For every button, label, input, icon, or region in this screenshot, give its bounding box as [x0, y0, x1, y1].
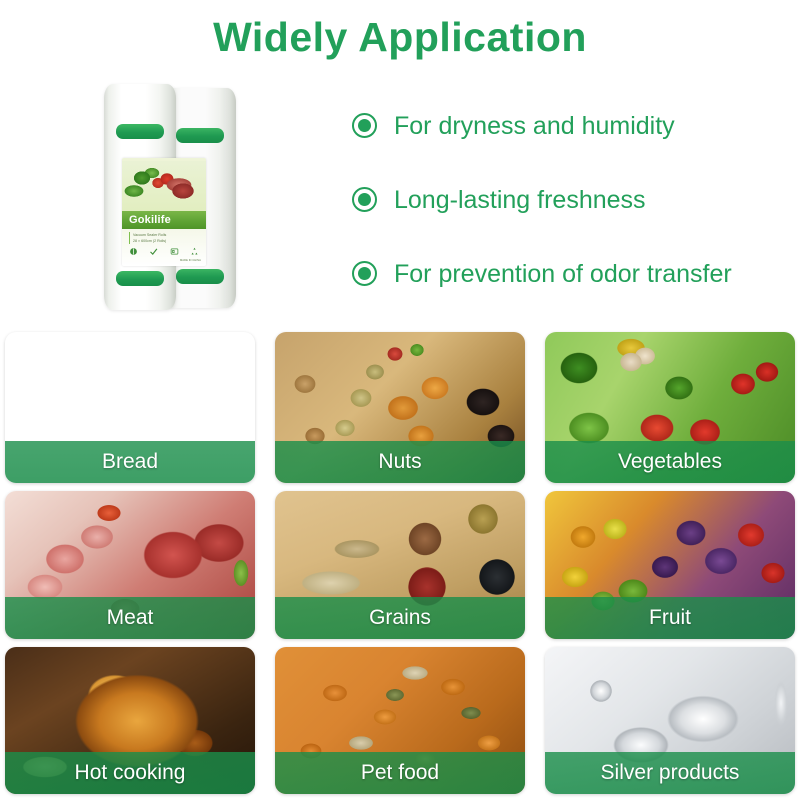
- application-cell-vegetables: Vegetables: [545, 332, 795, 483]
- grid-row: Hot cooking Pet food Silver products: [5, 647, 795, 794]
- food-safe-check-icon: [149, 247, 158, 256]
- cell-caption: Hot cooking: [5, 752, 255, 794]
- application-cell-nuts: Nuts: [275, 332, 525, 483]
- feature-label: For prevention of odor transfer: [394, 257, 732, 291]
- roll-band-top: [116, 124, 164, 139]
- radio-filled-icon: [352, 261, 377, 286]
- application-cell-grains: Grains: [275, 491, 525, 639]
- label-food-photo: [122, 161, 206, 211]
- grid-row: Meat Grains Fruit: [5, 491, 795, 639]
- cell-caption: Nuts: [275, 441, 525, 483]
- brand-name: Gokilife: [122, 211, 206, 229]
- radio-filled-icon: [352, 187, 377, 212]
- radio-filled-icon: [352, 113, 377, 138]
- cell-caption: Silver products: [545, 752, 795, 794]
- label-spec-lines: Vacuum Sealer Rolls 28 × 600cm (2 Rolls): [129, 232, 201, 244]
- cell-caption: Vegetables: [545, 441, 795, 483]
- feature-item: For prevention of odor transfer: [352, 252, 792, 326]
- feature-item: Long-lasting freshness: [352, 178, 792, 252]
- made-in-text: MADE IN CHINA: [180, 259, 201, 262]
- cell-caption: Meat: [5, 597, 255, 639]
- application-cell-silver-products: Silver products: [545, 647, 795, 794]
- cell-caption: Bread: [5, 441, 255, 483]
- application-cell-pet-food: Pet food: [275, 647, 525, 794]
- roll-band-top: [176, 128, 224, 143]
- feature-list: For dryness and humidity Long-lasting fr…: [352, 104, 792, 326]
- feature-label: For dryness and humidity: [394, 109, 675, 143]
- application-grid: Bread Nuts Vegetables Meat Gr: [5, 332, 795, 800]
- cell-caption: Pet food: [275, 752, 525, 794]
- roll-band-bottom: [176, 269, 224, 284]
- cell-caption: Grains: [275, 597, 525, 639]
- infographic-page: Widely Application Gokilife Vacuum Seale…: [0, 0, 800, 800]
- product-image: Gokilife Vacuum Sealer Rolls 28 × 600cm …: [96, 78, 240, 316]
- label-dimensions: 28 × 600cm (2 Rolls): [133, 238, 201, 244]
- cell-caption: Fruit: [545, 597, 795, 639]
- grid-row: Bread Nuts Vegetables: [5, 332, 795, 483]
- microwave-safe-icon: [170, 247, 179, 256]
- application-cell-fruit: Fruit: [545, 491, 795, 639]
- application-cell-hot-cooking: Hot cooking: [5, 647, 255, 794]
- product-label: Gokilife Vacuum Sealer Rolls 28 × 600cm …: [122, 158, 206, 266]
- feature-item: For dryness and humidity: [352, 104, 792, 178]
- roll-band-bottom: [116, 271, 164, 286]
- application-cell-bread: Bread: [5, 332, 255, 483]
- recycle-icon: [190, 247, 199, 256]
- bpa-free-icon: [129, 247, 138, 256]
- label-certification-icons: MADE IN CHINA: [128, 246, 202, 262]
- page-title: Widely Application: [0, 12, 800, 62]
- feature-label: Long-lasting freshness: [394, 183, 646, 217]
- application-cell-meat: Meat: [5, 491, 255, 639]
